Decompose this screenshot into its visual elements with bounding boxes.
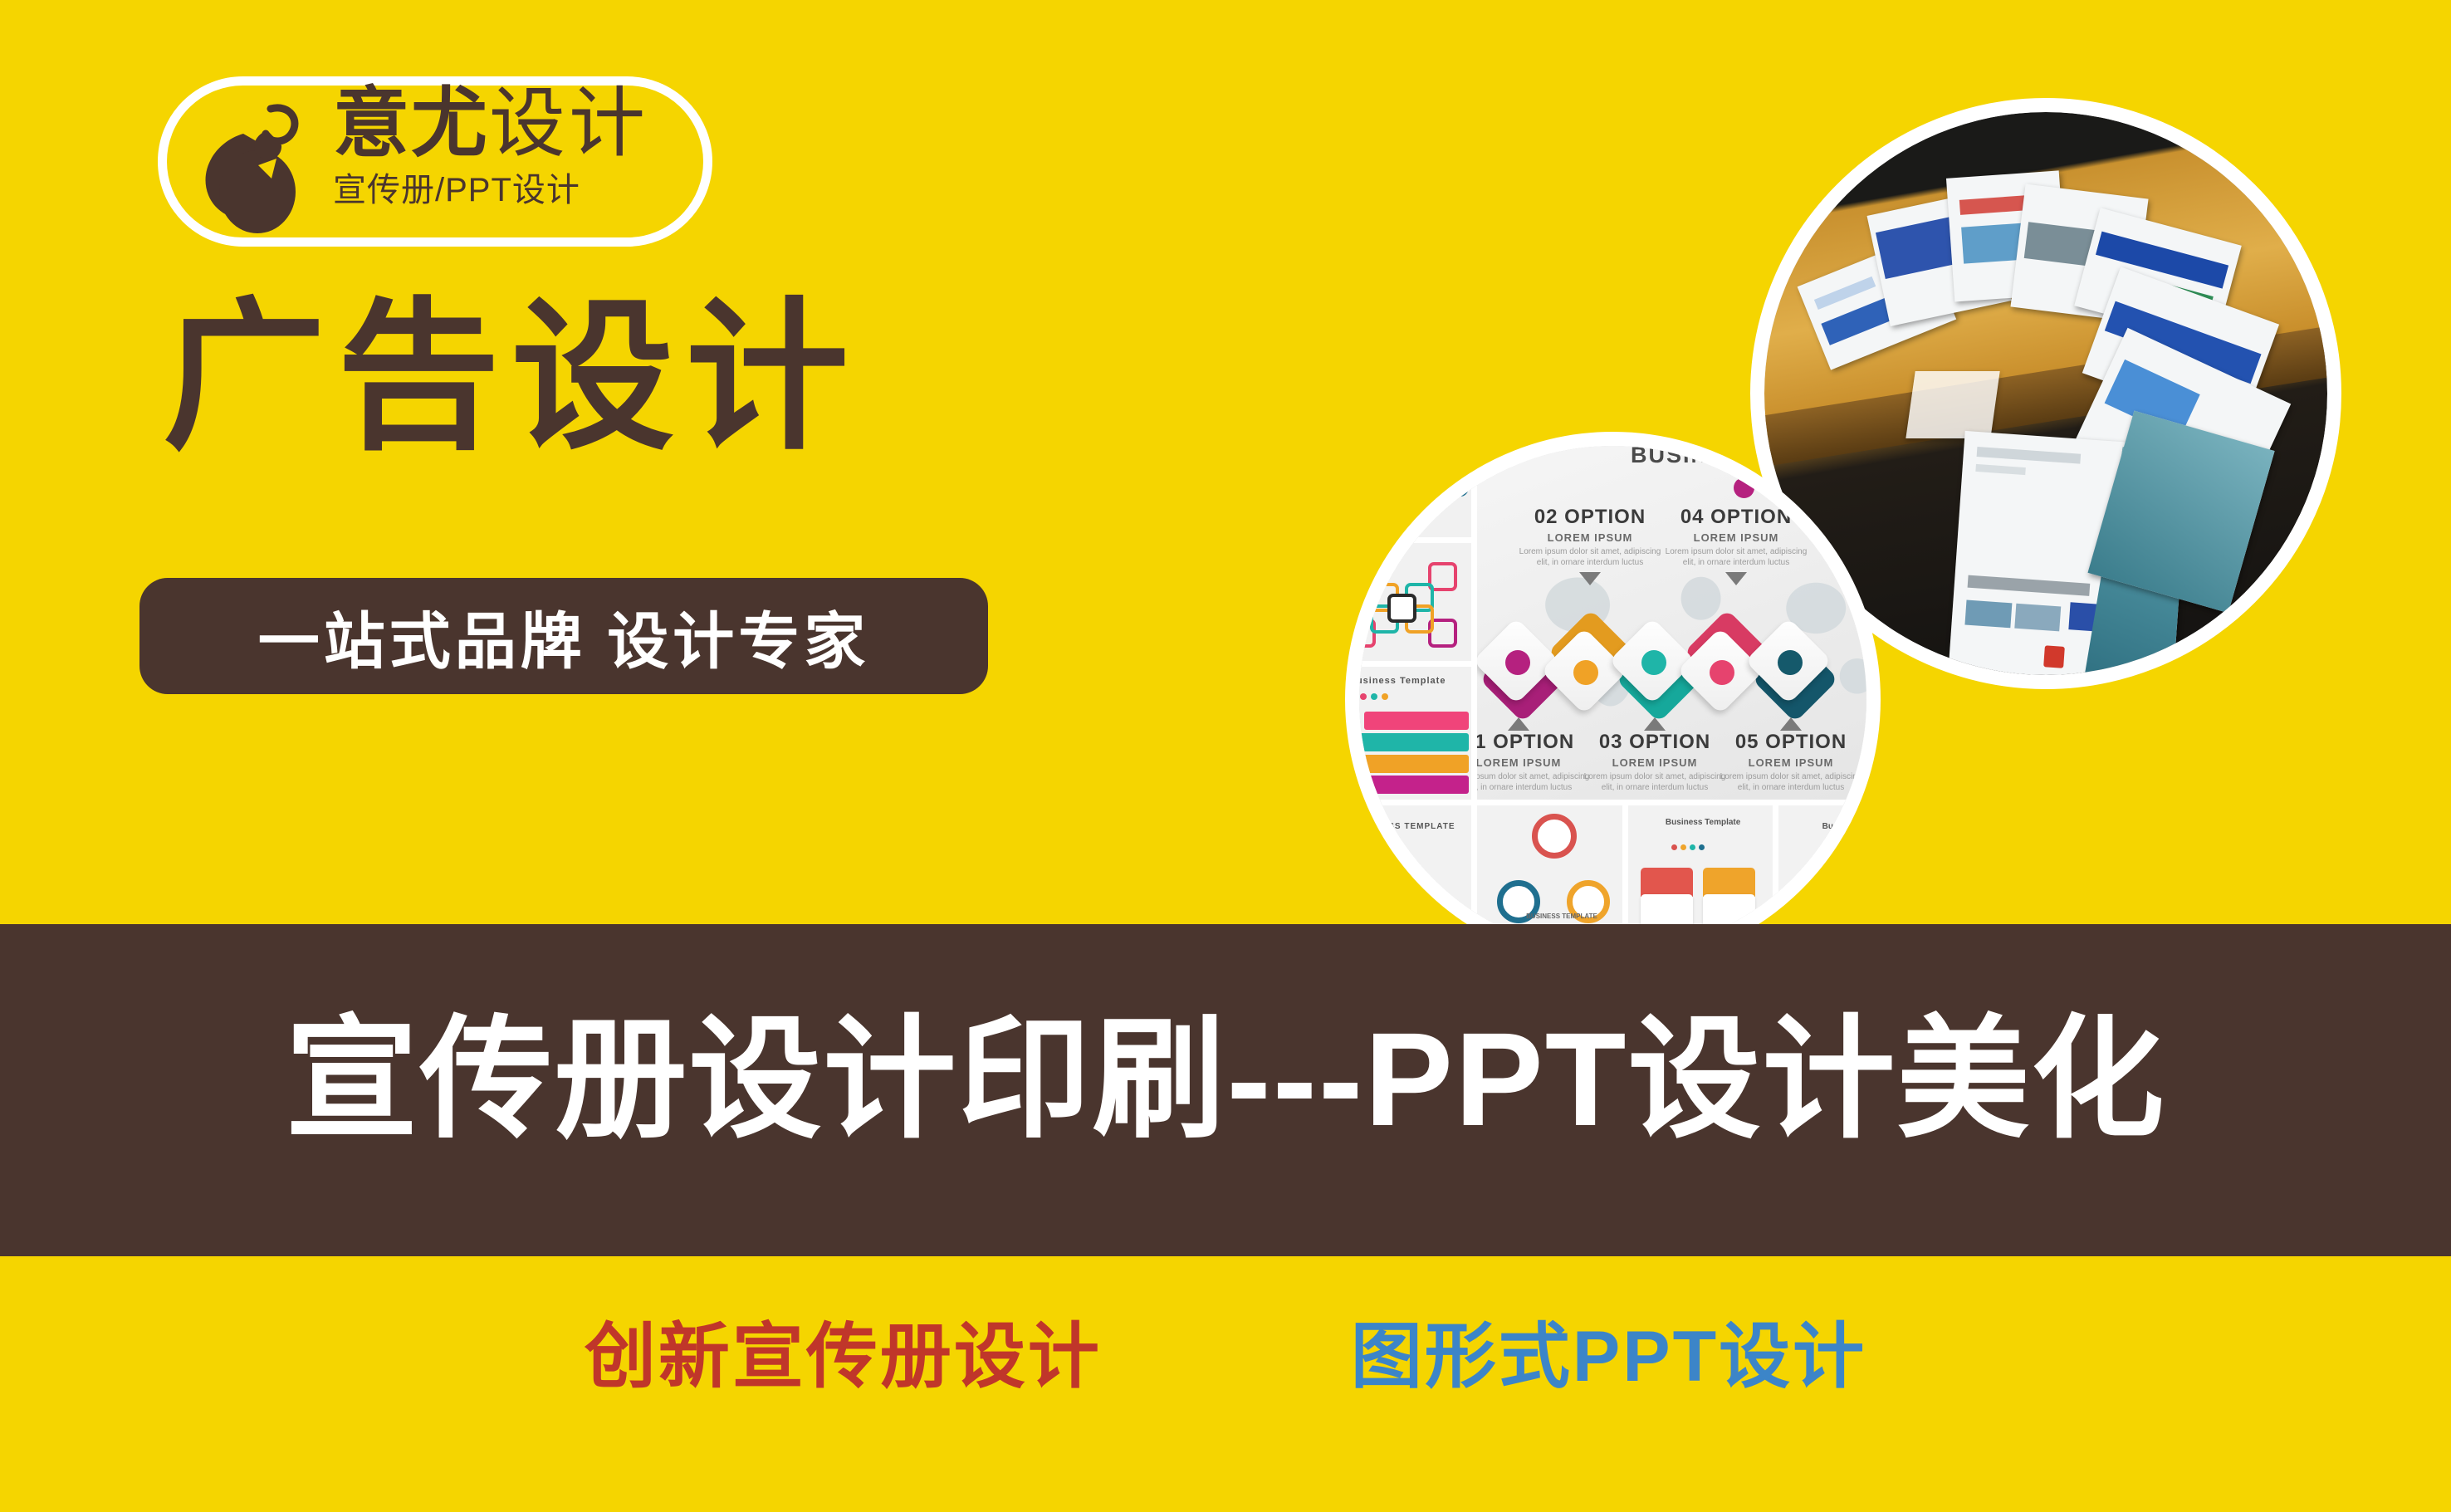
option-02-title: 02 OPTION (1515, 506, 1665, 529)
option-05-body: Lorem ipsum dolor sit amet, adipiscing e… (1716, 771, 1866, 793)
option-03-body: Lorem ipsum dolor sit amet, adipiscing e… (1580, 771, 1729, 793)
option-01-title: 01 OPTION (1477, 731, 1593, 754)
chart-icon (1778, 650, 1803, 675)
option-03: 03 OPTION LOREM IPSUM Lorem ipsum dolor … (1580, 713, 1729, 793)
option-03-title: 03 OPTION (1580, 731, 1729, 754)
option-02-sub: LOREM IPSUM (1515, 531, 1665, 544)
option-03-sub: LOREM IPSUM (1580, 756, 1729, 769)
footer-item-brochure: 创新宣传册设计 (585, 1298, 1102, 1402)
footer-labels: 创新宣传册设计 图形式PPT设计 (0, 1287, 2451, 1412)
band-headline: 宣传册设计印刷---PPT设计美化 (0, 955, 2451, 1204)
main-slide-title: BUSINESS TEMPLATE (1631, 446, 1866, 468)
option-02-body: Lorem ipsum dolor sit amet, adipiscing e… (1515, 546, 1665, 568)
brand-logo-text: 意尤设计 宣传册/PPT设计 (333, 81, 723, 247)
ribbon-slide (1359, 446, 1471, 537)
tagline-badge: 一站式品牌 设计专家 (139, 578, 988, 694)
option-04-title: 04 OPTION (1661, 506, 1811, 529)
option-01: 01 OPTION LOREM IPSUM Lorem ipsum dolor … (1477, 713, 1593, 793)
option-05-sub: LOREM IPSUM (1716, 756, 1866, 769)
cross-matrix-slide (1359, 543, 1471, 661)
brand-name-bold: 意尤 (333, 81, 489, 166)
alarm-clock-icon (1710, 660, 1734, 685)
option-04-body: Lorem ipsum dolor sit amet, adipiscing e… (1661, 546, 1811, 568)
collage-clip: Business Template BUSINESS TEMP (1359, 446, 1866, 953)
bird-leaf-mark-icon (188, 99, 313, 240)
option-01-body: Lorem ipsum dolor sit amet, adipiscing e… (1477, 771, 1593, 793)
brand-name: 意尤设计 (333, 81, 723, 167)
brand-name-thin: 设计 (489, 81, 648, 166)
option-04-sub: LOREM IPSUM (1661, 531, 1811, 544)
option-05-title: 05 OPTION (1716, 731, 1866, 754)
tagline-badge-label: 一站式品牌 设计专家 (258, 592, 870, 681)
card-holder (1906, 371, 2000, 438)
rocket-icon (1573, 660, 1598, 685)
page-title: 广告设计 (163, 295, 860, 461)
footer-item-ppt: 图形式PPT设计 (1351, 1298, 1866, 1402)
brand-subtitle: 宣传册/PPT设计 (333, 170, 723, 210)
option-04: 04 OPTION LOREM IPSUM Lorem ipsum dolor … (1661, 506, 1811, 585)
ppt-template-collage-circle: Business Template BUSINESS TEMP (1345, 432, 1881, 967)
poster-canvas: 意尤设计 宣传册/PPT设计 广告设计 一站式品牌 设计专家 (0, 0, 2451, 1512)
option-02: 02 OPTION LOREM IPSUM Lorem ipsum dolor … (1515, 506, 1665, 585)
option-05: 05 OPTION LOREM IPSUM Lorem ipsum dolor … (1716, 713, 1866, 793)
target-icon (1641, 650, 1666, 675)
brand-logo: 意尤设计 宣传册/PPT设计 (158, 76, 712, 247)
magnifier-icon (1505, 650, 1530, 675)
option-01-sub: LOREM IPSUM (1477, 756, 1593, 769)
main-slide-dots (1734, 477, 1866, 498)
funnel-slide: Business Template (1359, 667, 1471, 800)
main-business-template-slide: BUSINESS TEMPLATE 02 OPTION LOREM IPSUM … (1477, 446, 1866, 800)
ppt-collage-grid: Business Template BUSINESS TEMP (1359, 446, 1866, 953)
